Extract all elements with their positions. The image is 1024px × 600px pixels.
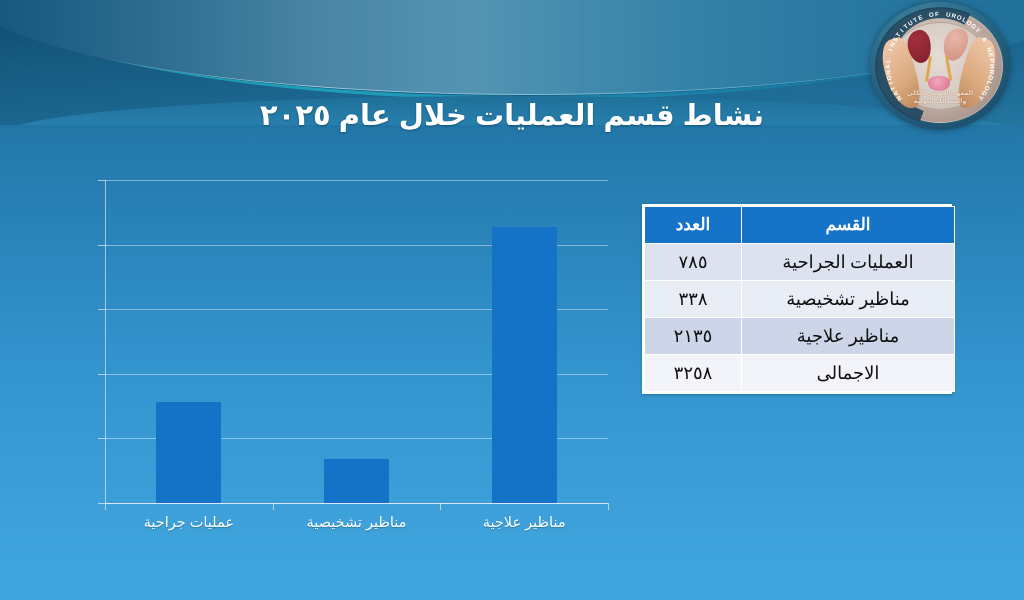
slide: NATIONAL INSTITUTE OF UROLOGY & NEPHROLO… — [0, 0, 1024, 600]
y-gridline — [105, 503, 608, 504]
table-cell-department: مناظير علاجية — [742, 318, 955, 355]
table-cell-count: ٣٢٥٨ — [645, 355, 742, 392]
logo-arabic-line-1: المعهد القومي للكلى — [884, 90, 996, 98]
summary-table: القسم العدد العمليات الجراحية٧٨٥مناظير ت… — [642, 204, 952, 394]
table-cell-count: ٧٨٥ — [645, 244, 742, 281]
table-row: الاجمالى٣٢٥٨ — [645, 355, 955, 392]
table-row: العمليات الجراحية٧٨٥ — [645, 244, 955, 281]
x-axis-tick — [273, 503, 274, 510]
table-header-row: القسم العدد — [645, 207, 955, 244]
table-cell-count: ٣٣٨ — [645, 281, 742, 318]
y-axis-tick — [98, 309, 106, 310]
table-header-department: القسم — [742, 207, 955, 244]
y-gridline — [105, 180, 608, 181]
x-axis-tick — [440, 503, 441, 510]
x-axis-label: عمليات جراحية — [105, 515, 273, 531]
x-axis-label: مناظير علاجية — [440, 515, 608, 531]
bar-chart: 05001000150020002500عمليات جراحيةمناظير … — [0, 160, 640, 560]
y-axis-tick — [98, 245, 106, 246]
table-body: العمليات الجراحية٧٨٥مناظير تشخيصية٣٣٨منا… — [645, 244, 955, 392]
bar-0 — [156, 402, 221, 503]
bar-2 — [492, 227, 557, 503]
table-cell-department: الاجمالى — [742, 355, 955, 392]
table-header-count: العدد — [645, 207, 742, 244]
x-axis-tick — [608, 503, 609, 510]
table-row: مناظير تشخيصية٣٣٨ — [645, 281, 955, 318]
y-axis-tick — [98, 374, 106, 375]
table-cell-count: ٢١٣٥ — [645, 318, 742, 355]
bar-1 — [324, 459, 389, 503]
y-axis-tick — [98, 438, 106, 439]
y-axis-tick — [98, 180, 106, 181]
table-row: مناظير علاجية٢١٣٥ — [645, 318, 955, 355]
x-axis-tick — [105, 503, 106, 510]
table-cell-department: العمليات الجراحية — [742, 244, 955, 281]
table-cell-department: مناظير تشخيصية — [742, 281, 955, 318]
y-axis-line — [105, 180, 106, 503]
x-axis-label: مناظير تشخيصية — [273, 515, 441, 531]
page-title: نشاط قسم العمليات خلال عام ٢٠٢٥ — [0, 98, 1024, 133]
